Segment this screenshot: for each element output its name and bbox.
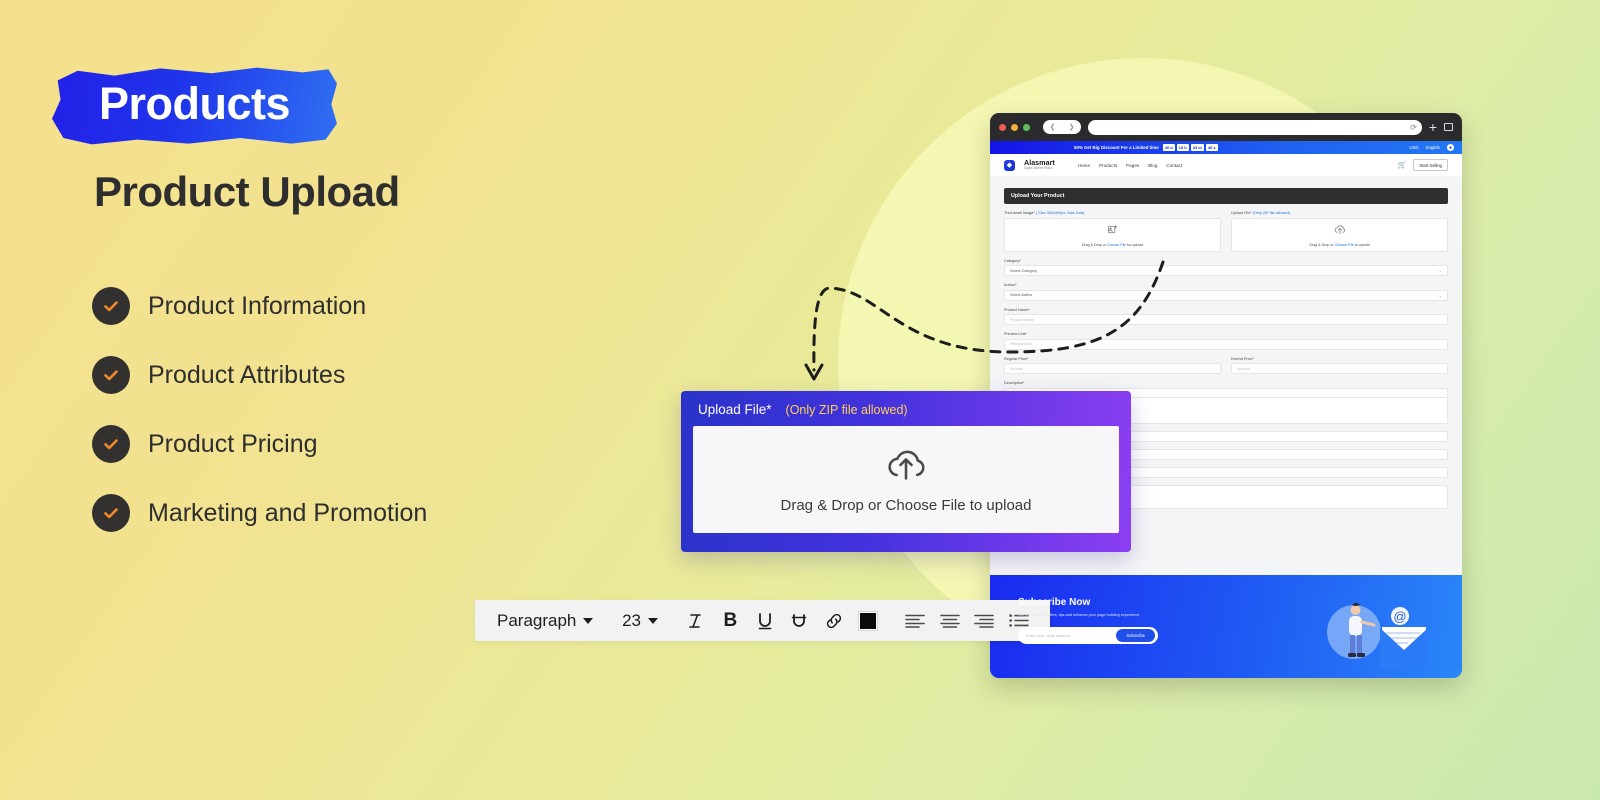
checklist-label: Marketing and Promotion [148, 499, 427, 528]
minimize-icon[interactable] [1011, 124, 1018, 131]
drop-prefix: Drag & Drop or [1082, 243, 1107, 247]
thumbnail-dropzone[interactable]: Drag & Drop or Choose File for upload [1004, 218, 1221, 252]
countdown-hours: 15 h [1177, 144, 1189, 150]
upload-panel-title: Upload Your Product [1004, 188, 1448, 204]
nav-item-products[interactable]: Products [1099, 163, 1117, 168]
check-icon [101, 296, 121, 316]
align-center-button[interactable] [933, 600, 967, 641]
browser-nav-buttons[interactable]: ❮ ❯ [1043, 120, 1081, 134]
logo-icon: ◆ [1004, 160, 1015, 171]
price-row: Regular Price* Amount Extend Price* Amou… [1004, 350, 1448, 375]
drop-prefix: Drag & Drop or [1309, 243, 1334, 247]
author-label: Author* [1004, 283, 1448, 287]
italic-button[interactable] [679, 600, 713, 641]
currency-selector[interactable]: USD [1409, 145, 1418, 150]
align-center-icon [939, 613, 961, 629]
subscribe-button[interactable]: Subscribe [1116, 629, 1155, 642]
bold-button[interactable]: B [713, 600, 747, 641]
font-size-select[interactable]: 23 [614, 600, 666, 641]
drop-suffix: to upload [1354, 243, 1370, 247]
user-icon[interactable]: ● [1447, 144, 1454, 151]
list-item: Product Attributes [92, 355, 427, 395]
countdown-days: 40 d [1163, 144, 1175, 150]
tabs-icon[interactable] [1444, 123, 1453, 131]
callout-label: Upload File* [698, 402, 772, 417]
product-name-placeholder: Product Name [1010, 318, 1034, 322]
style-select-value: Paragraph [497, 611, 576, 631]
extend-price-placeholder: Amount [1237, 367, 1250, 371]
file-dropzone[interactable]: Drag & Drop or Choose File to upload [1231, 218, 1448, 252]
underline-button[interactable] [748, 600, 782, 641]
preview-link-label: Preview Link* [1004, 332, 1448, 336]
check-icon [101, 365, 121, 385]
callout-header: Upload File* (Only ZIP file allowed) [681, 391, 1131, 426]
extend-price-input[interactable]: Amount [1231, 363, 1448, 374]
callout-dropzone-text: Drag & Drop or Choose File to upload [781, 497, 1032, 514]
nav-item-blog[interactable]: Blog [1148, 163, 1157, 168]
thumbnail-label-text: Thumbnail Image* [1004, 211, 1035, 215]
font-size-value: 23 [622, 611, 641, 631]
page-root: Products Product Upload Product Informat… [0, 0, 1600, 800]
site-navbar: ◆ Alasmart Digital Market Place Home Pro… [990, 154, 1462, 176]
link-button[interactable] [817, 600, 851, 641]
category-select[interactable]: Select Category ⌄ [1004, 265, 1448, 276]
upload-drop-row: Thumbnail Image* ( Size 300x300px, Max 1… [1004, 204, 1448, 252]
browser-chrome-bar: ❮ ❯ ⟳ + [990, 113, 1462, 141]
regular-price-label: Regular Price* [1004, 357, 1221, 361]
nav-right: 🛒 Start Selling [1398, 159, 1448, 171]
subscribe-content: Subscribe Now Get the updates, offers, t… [990, 575, 1462, 644]
description-label: Description* [1004, 381, 1448, 385]
choose-file-link[interactable]: Choose File [1107, 243, 1126, 247]
subscribe-form: Enter your email address Subscribe [1018, 627, 1158, 644]
author-value: Select Author [1010, 293, 1033, 297]
chevron-left-icon[interactable]: ❮ [1050, 124, 1056, 131]
align-left-icon [904, 613, 926, 629]
callout-note: (Only ZIP file allowed) [786, 403, 908, 417]
extend-price-group: Extend Price* Amount [1231, 350, 1448, 375]
countdown-minutes: 33 m [1191, 144, 1204, 150]
style-select[interactable]: Paragraph [489, 600, 601, 641]
promo-text: 50% Get Big Discount For a Limited time [1074, 145, 1159, 150]
check-circle [92, 494, 130, 532]
category-value: Select Category [1010, 269, 1037, 273]
list-item: Product Pricing [92, 424, 427, 464]
thumbnail-hint: ( Size 300x300px, Max 1mb) [1036, 211, 1084, 215]
underline-icon [756, 611, 774, 631]
cloud-upload-icon [884, 445, 928, 488]
regular-price-group: Regular Price* Amount [1004, 350, 1221, 375]
page-title: Product Upload [94, 168, 400, 216]
chevron-down-icon: ⌄ [1439, 293, 1442, 298]
list-item: Marketing and Promotion [92, 493, 427, 533]
check-circle [92, 287, 130, 325]
strikethrough-icon [790, 611, 808, 631]
language-selector[interactable]: English [1426, 145, 1440, 150]
nav-item-contact[interactable]: Contact [1166, 163, 1182, 168]
logo-tagline: Digital Market Place [1024, 167, 1055, 171]
nav-item-home[interactable]: Home [1078, 163, 1090, 168]
extend-price-label: Extend Price* [1231, 357, 1448, 361]
subscribe-subtitle: Get the updates, offers, tips and enhanc… [1018, 613, 1462, 617]
text-color-button[interactable] [851, 600, 885, 641]
check-icon [101, 434, 121, 454]
file-upload-group: Upload File* (Only ZIP file allowed) [1231, 204, 1448, 252]
subscribe-title: Subscribe Now [1018, 597, 1462, 608]
products-badge: Products [52, 66, 337, 146]
address-bar[interactable]: ⟳ [1088, 120, 1422, 135]
cloud-upload-icon [1334, 222, 1346, 240]
maximize-icon[interactable] [1023, 124, 1030, 131]
strikethrough-button[interactable] [782, 600, 816, 641]
uploadfile-label: Upload File* (Only ZIP file allowed) [1231, 211, 1448, 215]
category-label: Category* [1004, 259, 1448, 263]
upload-file-callout: Upload File* (Only ZIP file allowed) Dra… [681, 391, 1131, 552]
left-panel: Products Product Upload Product Informat… [0, 0, 640, 800]
close-icon[interactable] [999, 124, 1006, 131]
list-item: Product Information [92, 286, 427, 326]
site-footer-subscribe: Subscribe Now Get the updates, offers, t… [990, 575, 1462, 678]
italic-icon [687, 611, 704, 630]
subscribe-email-input[interactable]: Enter your email address [1026, 633, 1116, 638]
feature-checklist: Product Information Product Attributes P… [92, 286, 427, 562]
text-color-swatch[interactable] [859, 612, 877, 630]
check-circle [92, 425, 130, 463]
chevron-down-icon [648, 618, 658, 624]
author-select[interactable]: Select Author ⌄ [1004, 290, 1448, 301]
product-name-input[interactable]: Product Name [1004, 314, 1448, 325]
countdown-timer: 40 d 15 h 33 m 40 s [1163, 144, 1218, 150]
cart-icon[interactable]: 🛒 [1398, 161, 1407, 169]
checklist-label: Product Pricing [148, 430, 318, 459]
regular-price-input[interactable]: Amount [1004, 363, 1221, 374]
thumbnail-dropzone-text: Drag & Drop or Choose File for upload [1082, 243, 1143, 247]
thumbnail-label: Thumbnail Image* ( Size 300x300px, Max 1… [1004, 211, 1221, 215]
checklist-label: Product Information [148, 292, 366, 321]
link-icon [824, 611, 844, 631]
chevron-down-icon: ⌄ [1439, 268, 1442, 273]
product-name-label: Product Name* [1004, 308, 1448, 312]
drop-suffix: for upload [1126, 243, 1143, 247]
check-circle [92, 356, 130, 394]
image-upload-icon [1107, 222, 1118, 240]
nav-links: Home Products Pages Blog Contact [1078, 163, 1182, 168]
nav-item-pages[interactable]: Pages [1126, 163, 1139, 168]
site-topbar: 50% Get Big Discount For a Limited time … [990, 141, 1462, 154]
callout-dropzone[interactable]: Drag & Drop or Choose File to upload [693, 426, 1119, 533]
plus-icon[interactable]: + [1429, 120, 1437, 134]
products-badge-label: Products [52, 66, 337, 146]
site-logo[interactable]: Alasmart Digital Market Place [1024, 159, 1055, 170]
uploadfile-hint: (Only ZIP file allowed) [1253, 211, 1290, 215]
preview-link-placeholder: Preview Link [1010, 342, 1032, 346]
thumbnail-upload-group: Thumbnail Image* ( Size 300x300px, Max 1… [1004, 204, 1221, 252]
chevron-right-icon[interactable]: ❯ [1069, 124, 1075, 131]
regular-price-placeholder: Amount [1010, 367, 1023, 371]
checklist-label: Product Attributes [148, 361, 345, 390]
file-dropzone-text: Drag & Drop or Choose File to upload [1309, 243, 1369, 247]
preview-link-input[interactable]: Preview Link [1004, 339, 1448, 350]
countdown-seconds: 40 s [1206, 144, 1218, 150]
window-controls [999, 124, 1030, 131]
uploadfile-label-text: Upload File* [1231, 211, 1252, 215]
start-selling-button[interactable]: Start Selling [1413, 159, 1448, 171]
editor-toolbar: Paragraph 23 B [475, 600, 1050, 641]
reload-icon[interactable]: ⟳ [1410, 123, 1417, 132]
chevron-down-icon [583, 618, 593, 624]
topbar-right: USD English ● [1409, 144, 1454, 151]
align-left-button[interactable] [898, 600, 932, 641]
choose-file-link[interactable]: Choose File [1335, 243, 1354, 247]
check-icon [101, 503, 121, 523]
